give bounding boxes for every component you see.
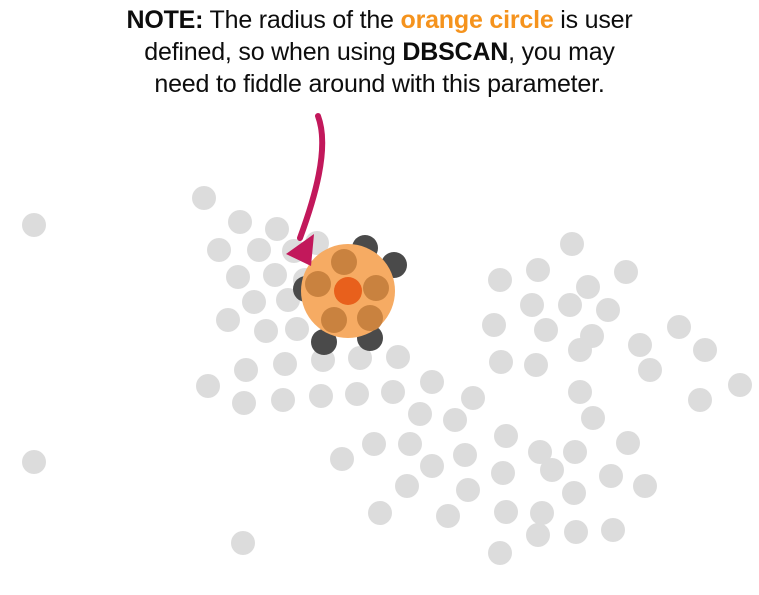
data-point-noise-points [309,384,333,408]
scatter-plot [0,0,759,595]
data-point-noise-points [282,239,306,263]
data-point-noise-points [628,333,652,357]
data-point-noise-points [488,268,512,292]
data-point-noise-points [345,382,369,406]
data-point-noise-points [330,447,354,471]
data-point-noise-points [192,186,216,210]
data-point-noise-points [688,388,712,412]
data-point-noise-points [395,474,419,498]
data-point-noise-points [362,432,386,456]
data-point-noise-points [728,373,752,397]
data-point-noise-points [420,370,444,394]
data-point-noise-points [638,358,662,382]
data-point-points-inside-radius [357,305,383,331]
data-point-noise-points [494,500,518,524]
data-point-noise-points [456,478,480,502]
data-point-noise-points [420,454,444,478]
data-point-noise-points [242,290,266,314]
data-point-noise-points [616,431,640,455]
data-point-noise-points [568,380,592,404]
data-point-noise-points [520,293,544,317]
data-point-noise-points [494,424,518,448]
data-point-noise-points [234,358,258,382]
data-point-noise-points [226,265,250,289]
data-point-noise-points [667,315,691,339]
data-point-noise-points [562,481,586,505]
data-point-noise-points [693,338,717,362]
data-point-noise-points [601,518,625,542]
data-point-noise-points [196,374,220,398]
data-point-center-point [334,277,362,305]
data-point-noise-points [560,232,584,256]
data-point-noise-points [443,408,467,432]
data-point-noise-points [381,380,405,404]
data-point-noise-points [436,504,460,528]
data-point-noise-points [228,210,252,234]
data-point-noise-points [526,258,550,282]
data-point-noise-points [534,318,558,342]
data-point-noise-points [581,406,605,430]
data-point-noise-points [398,432,422,456]
data-point-noise-points [482,313,506,337]
data-point-noise-points [491,461,515,485]
data-point-noise-points [461,386,485,410]
data-point-noise-points [254,319,278,343]
data-point-noise-points [453,443,477,467]
data-point-noise-points [231,531,255,555]
data-point-noise-points [614,260,638,284]
data-point-noise-points [247,238,271,262]
data-point-noise-points [580,324,604,348]
data-point-noise-points [564,520,588,544]
data-point-points-inside-radius [321,307,347,333]
data-point-noise-points [265,217,289,241]
data-point-noise-points [558,293,582,317]
data-point-points-inside-radius [305,271,331,297]
data-point-noise-points [271,388,295,412]
data-point-points-inside-radius [363,275,389,301]
slide-canvas: NOTE: The radius of the orange circle is… [0,0,759,595]
data-point-noise-points [526,523,550,547]
data-point-noise-points [489,350,513,374]
data-point-noise-points [576,275,600,299]
data-point-noise-points [22,213,46,237]
data-point-noise-points [488,541,512,565]
data-point-noise-points [563,440,587,464]
data-point-noise-points [263,263,287,287]
data-point-noise-points [207,238,231,262]
data-point-noise-points [528,440,552,464]
data-point-noise-points [285,317,309,341]
data-point-noise-points [524,353,548,377]
data-point-noise-points [633,474,657,498]
data-point-noise-points [530,501,554,525]
data-point-noise-points [216,308,240,332]
data-point-noise-points [408,402,432,426]
data-point-points-inside-radius [331,249,357,275]
data-point-noise-points [386,345,410,369]
data-point-noise-points [273,352,297,376]
data-point-noise-points [368,501,392,525]
data-point-noise-points [599,464,623,488]
data-point-noise-points [22,450,46,474]
data-point-noise-points [596,298,620,322]
data-point-noise-points [232,391,256,415]
